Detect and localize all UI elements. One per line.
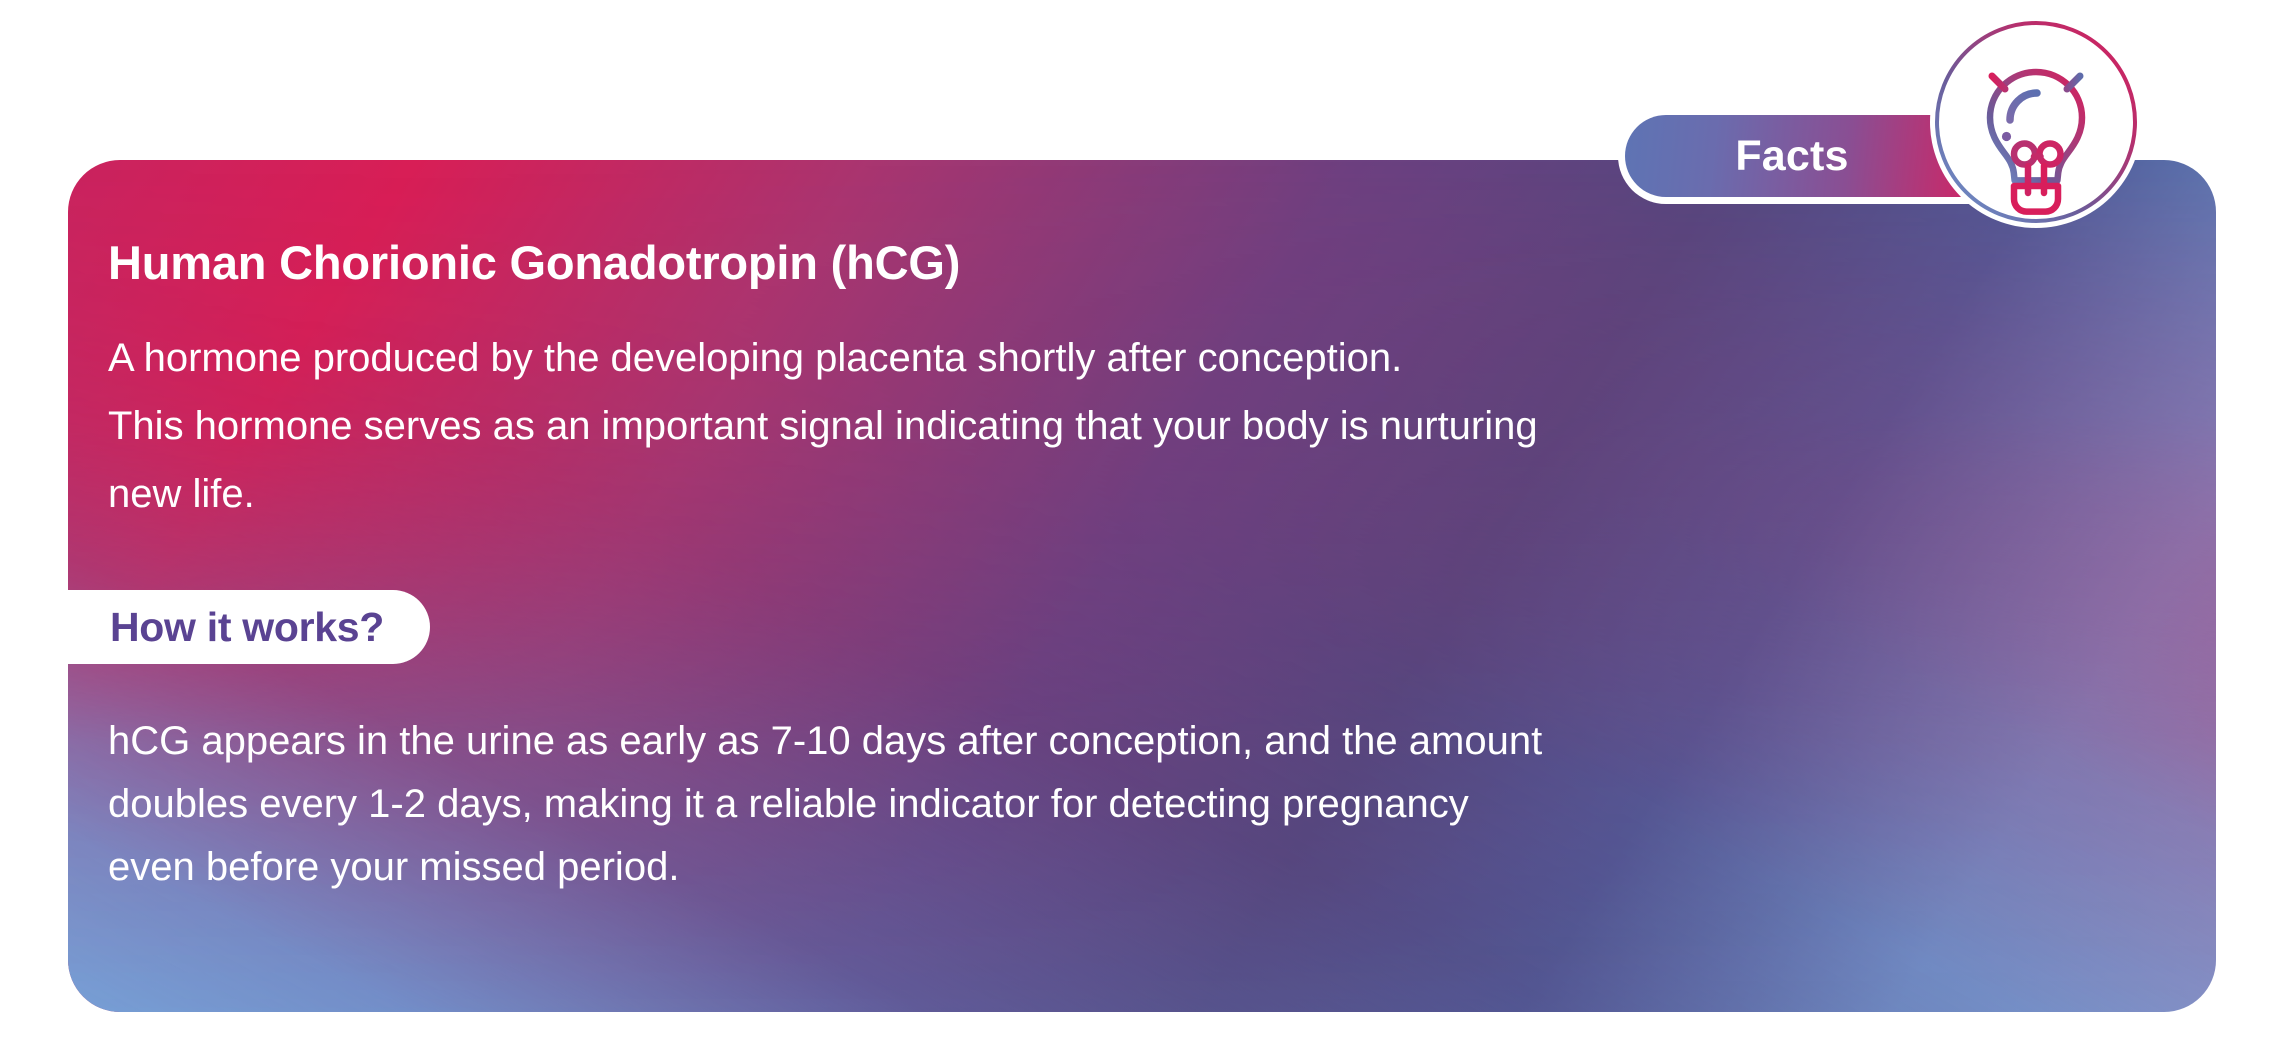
body-paragraph: hCG appears in the urine as early as 7-1…: [108, 710, 2008, 899]
body-line-2: doubles every 1-2 days, making it a reli…: [108, 773, 2008, 836]
facts-badge-label: Facts: [1735, 132, 1920, 181]
intro-line-2: This hormone serves as an important sign…: [108, 392, 1988, 460]
intro-paragraph: A hormone produced by the developing pla…: [108, 324, 1988, 528]
page-title: Human Chorionic Gonadotropin (hCG): [108, 235, 960, 290]
body-line-1: hCG appears in the urine as early as 7-1…: [108, 710, 2008, 773]
intro-line-3: new life.: [108, 460, 1988, 528]
fact-card-content: Human Chorionic Gonadotropin (hCG) A hor…: [68, 160, 2216, 1012]
slide-canvas: Human Chorionic Gonadotropin (hCG) A hor…: [0, 0, 2282, 1060]
fact-card: Human Chorionic Gonadotropin (hCG) A hor…: [68, 160, 2216, 1012]
intro-line-1: A hormone produced by the developing pla…: [108, 324, 1988, 392]
section-pill-label: How it works?: [110, 604, 384, 651]
lightbulb-icon: [1930, 16, 2142, 228]
section-pill-how-it-works: How it works?: [68, 590, 430, 664]
body-line-3: even before your missed period.: [108, 836, 2008, 899]
